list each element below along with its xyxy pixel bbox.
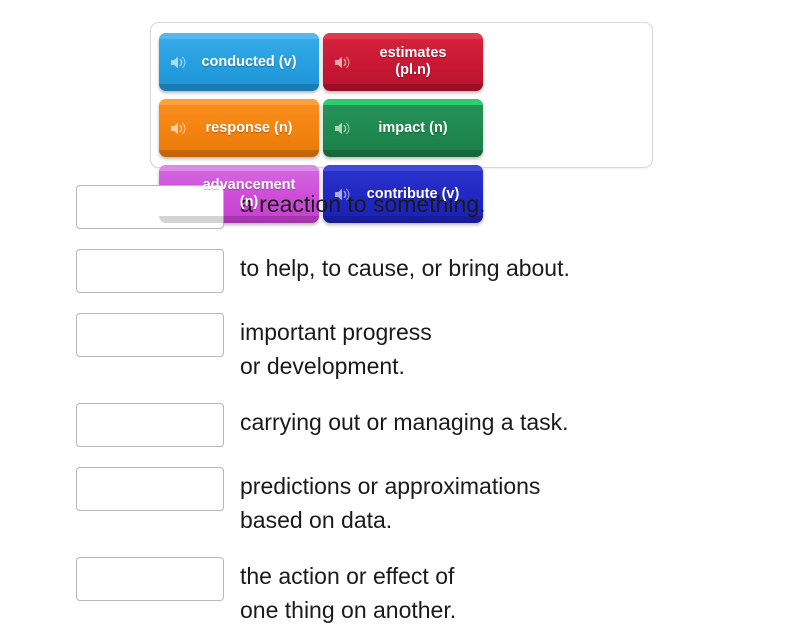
speaker-icon[interactable] bbox=[170, 187, 187, 202]
word-bank-container: conducted (v) estimates (pl.n) response … bbox=[150, 22, 653, 168]
answer-row: important progress or development. bbox=[0, 313, 800, 383]
speaker-icon[interactable] bbox=[334, 121, 351, 136]
drop-zone[interactable] bbox=[76, 557, 224, 601]
speaker-icon[interactable] bbox=[170, 121, 187, 136]
word-tile-label: contribute (v) bbox=[351, 186, 483, 203]
word-tile-impact[interactable]: impact (n) bbox=[323, 99, 483, 157]
definition-text: important progress or development. bbox=[240, 313, 432, 383]
drop-zone[interactable] bbox=[76, 467, 224, 511]
answer-row: carrying out or managing a task. bbox=[0, 403, 800, 447]
word-tile-label: estimates (pl.n) bbox=[351, 45, 483, 79]
speaker-icon[interactable] bbox=[334, 55, 351, 70]
definition-text: predictions or approximations based on d… bbox=[240, 467, 540, 537]
drop-zone[interactable] bbox=[76, 249, 224, 293]
answer-list: a reaction to something. to help, to cau… bbox=[0, 185, 800, 627]
definition-text: the action or effect of one thing on ano… bbox=[240, 557, 456, 627]
word-tile-conducted[interactable]: conducted (v) bbox=[159, 33, 319, 91]
answer-row: predictions or approximations based on d… bbox=[0, 467, 800, 537]
speaker-icon[interactable] bbox=[170, 55, 187, 70]
word-tile-response[interactable]: response (n) bbox=[159, 99, 319, 157]
definition-text: carrying out or managing a task. bbox=[240, 403, 569, 439]
word-tile-label: conducted (v) bbox=[187, 54, 319, 71]
word-tile-label: impact (n) bbox=[351, 120, 483, 137]
answer-row: to help, to cause, or bring about. bbox=[0, 249, 800, 293]
drop-zone[interactable] bbox=[76, 403, 224, 447]
drop-zone[interactable] bbox=[76, 313, 224, 357]
word-tile-estimates[interactable]: estimates (pl.n) bbox=[323, 33, 483, 91]
word-tile-label: response (n) bbox=[187, 120, 319, 137]
word-tile-label: advancement (n) bbox=[187, 177, 319, 211]
answer-row: the action or effect of one thing on ano… bbox=[0, 557, 800, 627]
definition-text: to help, to cause, or bring about. bbox=[240, 249, 570, 285]
speaker-icon[interactable] bbox=[334, 187, 351, 202]
